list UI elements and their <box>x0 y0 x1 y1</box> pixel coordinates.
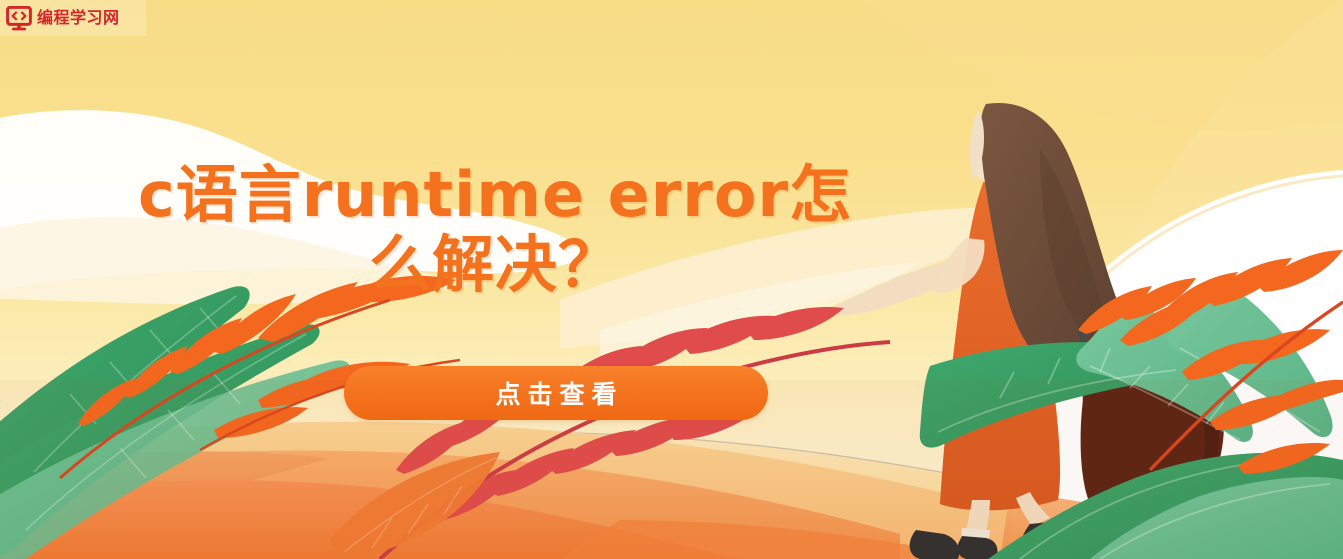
site-logo-text: 编程学习网 <box>37 10 120 26</box>
promotional-banner: 编程学习网 c语言runtime error怎 么解决？ 点击查看 <box>0 0 1343 559</box>
code-monitor-icon <box>6 6 32 31</box>
illustration-scene <box>0 0 1343 559</box>
view-details-button[interactable]: 点击查看 <box>344 366 768 420</box>
site-logo[interactable]: 编程学习网 <box>0 0 146 36</box>
